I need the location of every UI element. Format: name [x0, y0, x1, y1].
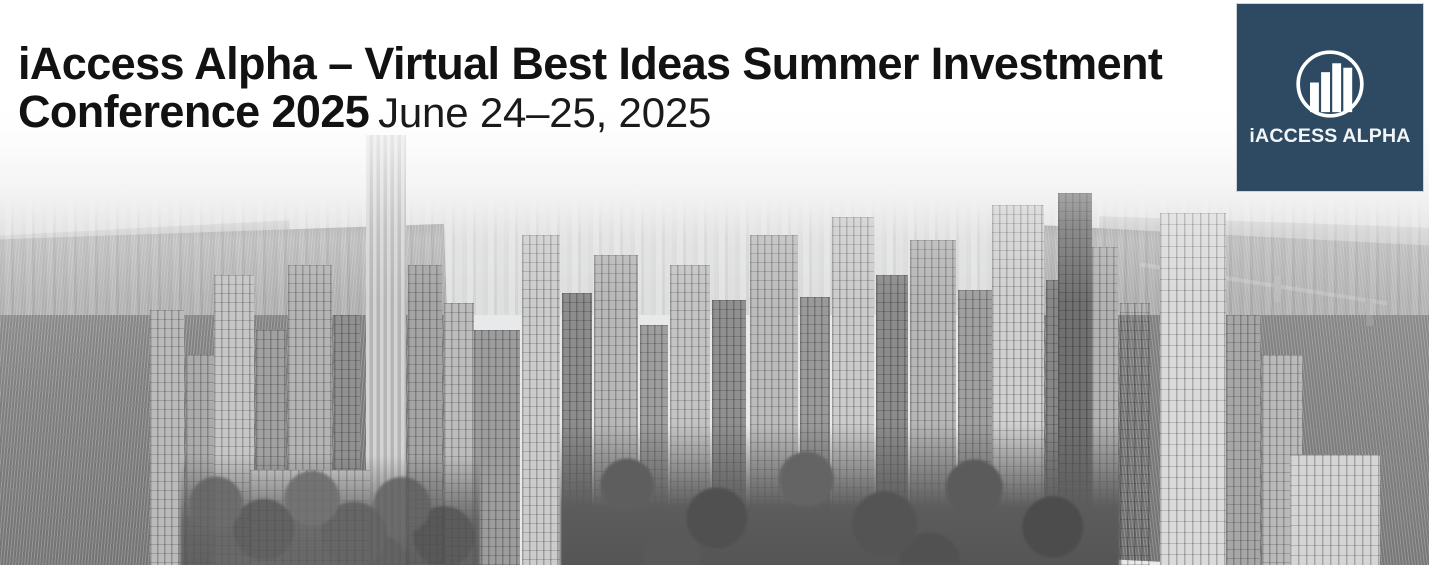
building	[150, 310, 184, 565]
conference-title-line2: Conference 2025	[18, 86, 369, 137]
conference-banner: iAccess Alpha – Virtual Best Ideas Summe…	[0, 0, 1429, 565]
park-trees-left	[180, 455, 480, 565]
waterfront-building	[1290, 455, 1380, 565]
gridded-tower	[1160, 213, 1226, 565]
conference-title: iAccess Alpha – Virtual Best Ideas Summe…	[18, 38, 1162, 89]
building	[522, 235, 560, 565]
page-title: iAccess Alpha – Virtual Best Ideas Summe…	[18, 40, 1198, 136]
bar-chart-circle-icon	[1293, 47, 1367, 121]
logo-wordmark: iACCESS ALPHA	[1249, 125, 1410, 148]
conference-dates: June 24–25, 2025	[378, 89, 711, 136]
building	[1226, 315, 1260, 565]
building	[474, 330, 520, 565]
building	[1120, 303, 1150, 565]
iaccess-alpha-logo[interactable]: iACCESS ALPHA	[1236, 3, 1424, 192]
battery-park-trees	[560, 425, 1120, 565]
